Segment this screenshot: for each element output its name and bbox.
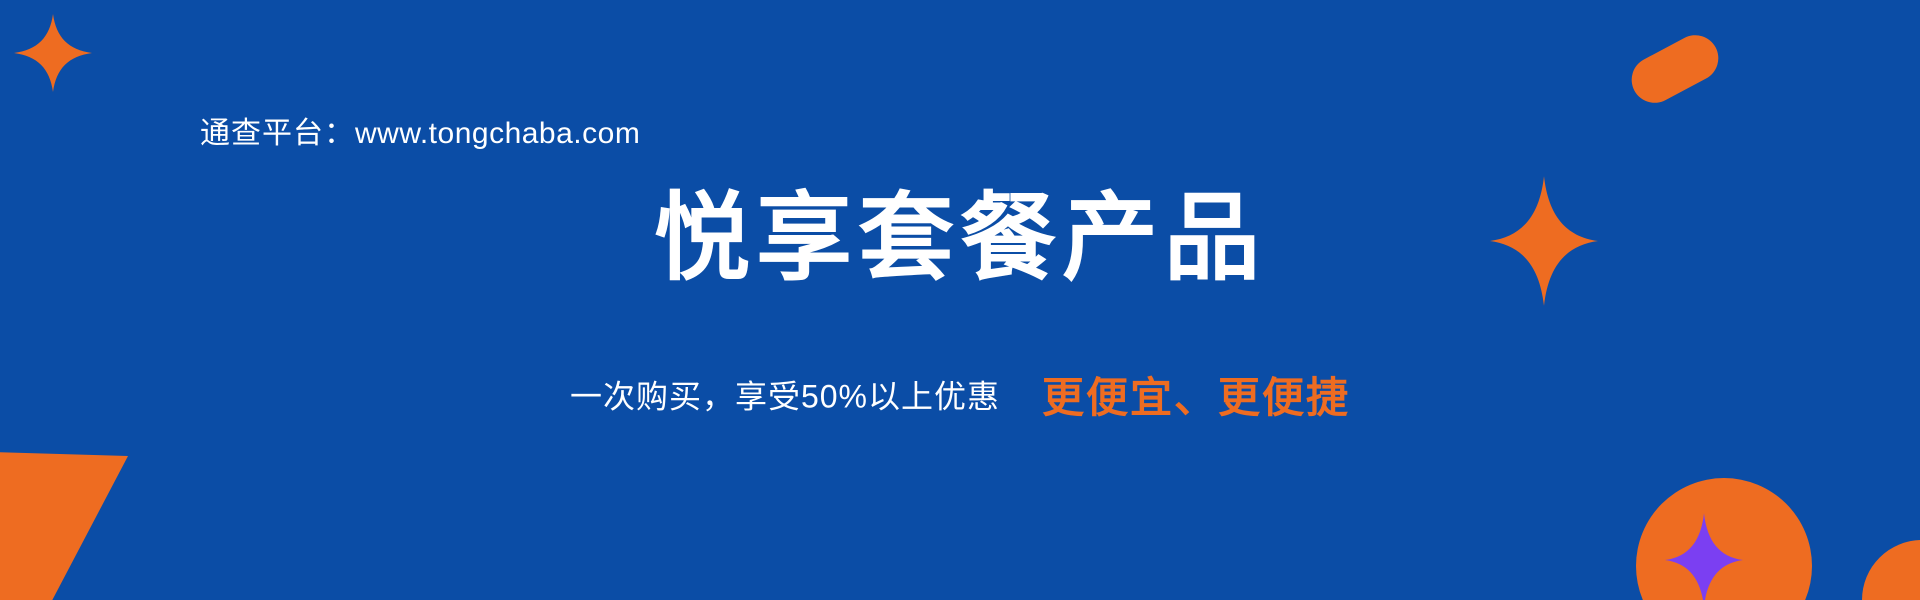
site-label: 通查平台： [200,117,355,150]
subtitle-line: 一次购买，享受50%以上优惠更便宜、更便捷 [0,364,1920,425]
site-url: www.tongchaba.com [355,117,640,150]
page-title: 悦享套餐产品 [0,186,1920,292]
subtitle-plain-text: 一次购买，享受50%以上优惠 [570,379,1000,415]
subtitle-accent-text: 更便宜、更便捷 [1042,374,1350,421]
site-line: 通查平台：www.tongchaba.com [200,108,640,152]
banner-content: 通查平台：www.tongchaba.com 悦享套餐产品 一次购买，享受50%… [0,0,1920,600]
promo-banner: 通查平台：www.tongchaba.com 悦享套餐产品 一次购买，享受50%… [0,0,1920,600]
